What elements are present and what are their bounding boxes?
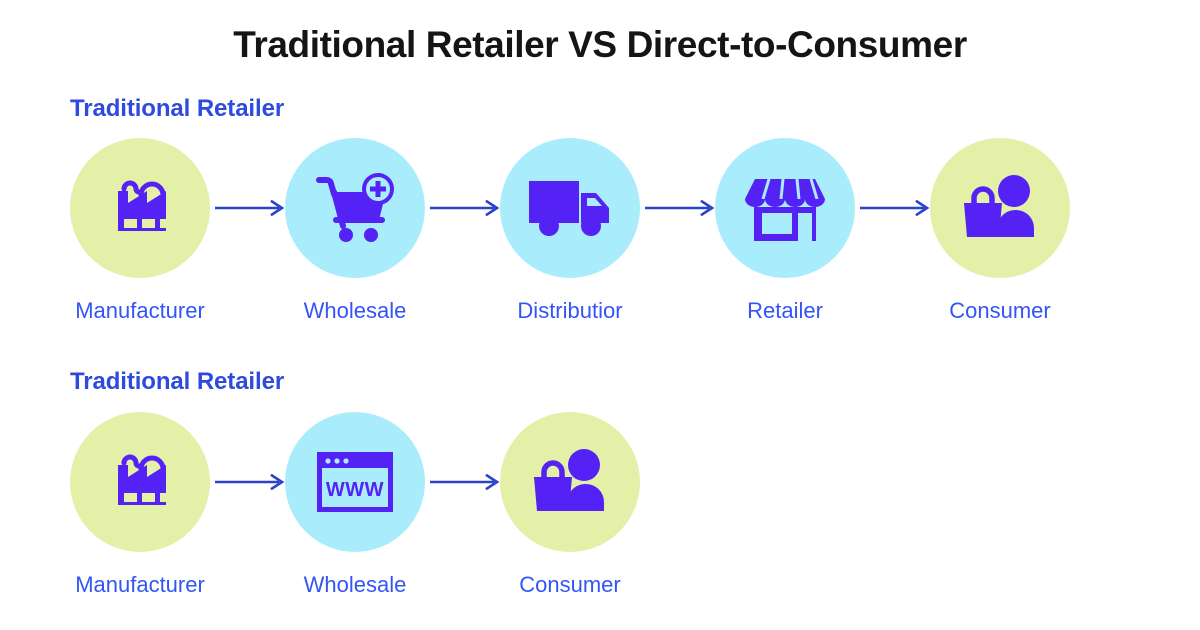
flow-node-consumer[interactable]: Consumer <box>500 412 640 598</box>
flow-node-label: Manufacturer <box>70 298 210 324</box>
node-circle <box>500 412 640 552</box>
section-heading-direct-to-consumer: Traditional Retailer <box>70 368 284 396</box>
truck-icon <box>527 177 613 239</box>
node-circle <box>70 138 210 278</box>
www-browser-icon: WWW <box>317 452 393 512</box>
flow-arrow <box>215 200 290 216</box>
diagram-canvas: Traditional Retailer VS Direct-to-Consum… <box>0 0 1200 630</box>
flow-arrow <box>430 200 505 216</box>
flow-node-label: Manufacturer <box>70 572 210 598</box>
node-circle <box>500 138 640 278</box>
factory-icon <box>101 445 179 519</box>
flow-node-consumer[interactable]: Consumer <box>930 138 1070 324</box>
node-circle <box>930 138 1070 278</box>
node-circle: WWW <box>285 412 425 552</box>
flow-arrow <box>215 474 290 490</box>
flow-node-retailer[interactable]: Retailer <box>715 138 855 324</box>
flow-node-label: Wholesale <box>285 298 425 324</box>
flow-node-distribution[interactable]: Distributior <box>500 138 640 324</box>
node-circle <box>70 412 210 552</box>
flow-node-wholesale[interactable]: Wholesale <box>285 138 425 324</box>
flow-node-label: Consumer <box>930 298 1070 324</box>
flow-arrow <box>645 200 720 216</box>
flow-node-manufacturer[interactable]: Manufacturer <box>70 138 210 324</box>
node-circle <box>285 138 425 278</box>
flow-arrow <box>430 474 505 490</box>
consumer-icon <box>958 173 1042 243</box>
storefront-icon <box>745 175 825 241</box>
flow-arrow <box>860 200 935 216</box>
page-title: Traditional Retailer VS Direct-to-Consum… <box>0 24 1200 66</box>
flow-node-manufacturer[interactable]: Manufacturer <box>70 412 210 598</box>
svg-text:WWW: WWW <box>326 479 384 501</box>
flow-node-label: Consumer <box>500 572 640 598</box>
cart-plus-icon <box>313 170 397 246</box>
consumer-icon <box>528 447 612 517</box>
factory-icon <box>101 171 179 245</box>
flow-node-label: Distributior <box>500 298 640 324</box>
flow-node-label: Retailer <box>715 298 855 324</box>
flow-node-label: Wholesale <box>285 572 425 598</box>
flow-node-online-store[interactable]: WWW Wholesale <box>285 412 425 598</box>
section-heading-traditional-retailer: Traditional Retailer <box>70 95 284 123</box>
node-circle <box>715 138 855 278</box>
